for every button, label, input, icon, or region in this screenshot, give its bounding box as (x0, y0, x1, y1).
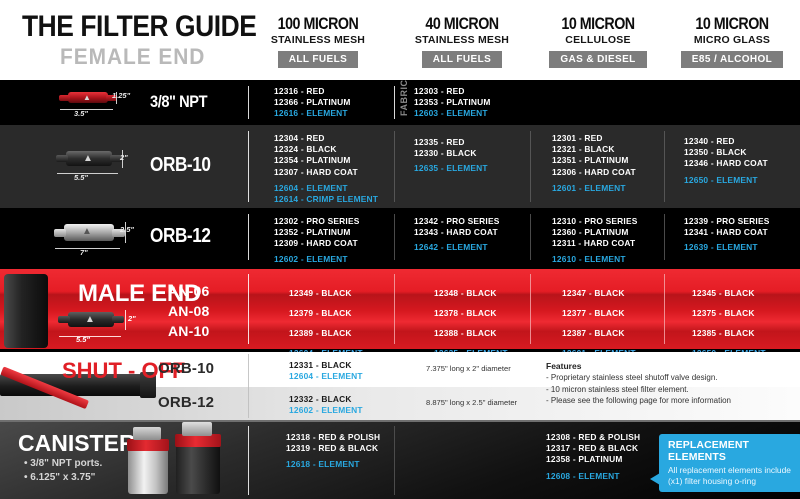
column-material-label: MICRO GLASS (666, 34, 798, 47)
section-canister[interactable]: CANISTER • 3/8" NPT ports. • 6.125" x 3.… (0, 422, 800, 499)
filter-guide-sheet: THE FILTER GUIDE FEMALE END 100 MICRON S… (0, 0, 800, 499)
row-label-an-06: AN-06 (168, 283, 209, 299)
column-divider (248, 354, 249, 418)
column-micron-label: 10 MICRON (677, 14, 788, 33)
column-material-label: CELLULOSE (532, 34, 664, 47)
filter-endcap-left (54, 229, 66, 237)
dimension-diameter-label: 2" (128, 314, 136, 323)
table-row-npt[interactable]: ▲ 3.5" 1.25" 3/8" NPT 12316 - RED 12366 … (0, 80, 800, 125)
column-fuel-badge: ALL FUELS (278, 51, 358, 68)
column-micron-label: 100 MICRON (263, 14, 374, 33)
parts-cell-10-micron-micro-glass: 12339 - PRO SERIES 12341 - HARD COAT 126… (684, 216, 800, 254)
column-header-40-micron: 40 MICRON STAINLESS MESH ALL FUELS (396, 14, 528, 68)
column-fuel-badge: ALL FUELS (422, 51, 502, 68)
canister-spec-line: • 3/8" NPT ports. (24, 458, 102, 469)
brand-logo-icon: ▲ (85, 314, 95, 325)
dimension-line-diameter (125, 310, 126, 330)
features-item: - 10 micron stainless steel filter eleme… (546, 384, 786, 396)
row-label-shutoff-orb-12: ORB-12 (158, 394, 214, 411)
row-label-orb-10: ORB-10 (150, 154, 211, 177)
shutoff-dimension-note-orb-10: 7.375" long x 2" diameter (426, 364, 511, 373)
brand-logo-icon: ▲ (83, 93, 91, 102)
brand-logo-icon: ▲ (82, 226, 92, 237)
dimension-length-label: 5.5" (74, 173, 88, 182)
column-divider (248, 214, 249, 260)
part-number-element: 12602 - ELEMENT (289, 405, 800, 416)
callout-heading: REPLACEMENT ELEMENTS (668, 439, 794, 463)
dimension-length-label: 5.5" (76, 335, 90, 344)
section-shut-off[interactable]: SHUT - OFF ORB-10 ORB-12 12331 - BLACK 1… (0, 352, 800, 422)
part-number: 12341 - HARD COAT (684, 227, 800, 238)
dimension-diameter-label: 2" (120, 153, 128, 162)
part-number: 12303 - RED (414, 86, 800, 97)
row-label-orb-12: ORB-12 (150, 225, 211, 248)
part-number-element: 12650 - ELEMENT (692, 343, 800, 352)
filter-endcap-right (112, 316, 124, 323)
parts-cell-10-micron-micro-glass: 12345 - BLACK 12375 - BLACK 12385 - BLAC… (692, 283, 800, 352)
brand-logo-icon: ▲ (83, 153, 93, 164)
male-end-fitting-illustration (4, 274, 48, 348)
column-fuel-badge: E85 / ALCOHOL (681, 51, 783, 68)
canister-spec-line: • 6.125" x 3.75" (24, 472, 95, 483)
section-title-female-end: FEMALE END (60, 44, 205, 70)
filter-endcap-left (59, 95, 70, 101)
part-number-element: 12610 - ELEMENT (552, 254, 800, 265)
column-header-10-micron-cellulose: 10 MICRON CELLULOSE GAS & DIESEL (532, 14, 664, 68)
section-title-canister: CANISTER (18, 430, 136, 457)
parts-cell-10-micron-micro-glass: 12340 - RED 12350 - BLACK 12346 - HARD C… (684, 136, 800, 186)
part-number: 12353 - PLATINUM (414, 97, 800, 108)
header: THE FILTER GUIDE FEMALE END 100 MICRON S… (0, 0, 800, 80)
column-header-10-micron-micro-glass: 10 MICRON MICRO GLASS E85 / ALCOHOL (666, 14, 798, 68)
part-number: 12345 - BLACK (692, 283, 800, 303)
column-micron-label: 10 MICRON (543, 14, 654, 33)
dimension-length-label: 7" (80, 248, 88, 257)
table-row-orb-12[interactable]: ▲ 7" 2.5" ORB-12 12302 - PRO SERIES 1235… (0, 208, 800, 266)
features-heading: Features (546, 360, 786, 372)
part-number: 12350 - BLACK (684, 147, 800, 158)
features-block: Features - Proprietary stainless steel s… (546, 360, 786, 407)
canister-illustration-polish (128, 448, 168, 494)
canister-illustration-black (176, 444, 220, 494)
part-number-element: 12603 - ELEMENT (414, 108, 800, 119)
canister-illustration-polish-bracket (133, 427, 161, 440)
row-label-npt: 3/8" NPT (150, 92, 207, 112)
row-label-shutoff-orb-10: ORB-10 (158, 360, 214, 377)
column-fuel-badge: GAS & DIESEL (549, 51, 646, 68)
section-male-end[interactable]: ▲ 5.5" 2" MALE END AN-06 AN-08 AN-10 123… (0, 266, 800, 352)
column-material-label: STAINLESS MESH (252, 34, 384, 47)
dimension-diameter-label: 1.25" (112, 91, 130, 100)
part-number: 12385 - BLACK (692, 323, 800, 343)
part-number: 12340 - RED (684, 136, 800, 147)
part-number-element: 12639 - ELEMENT (684, 242, 800, 253)
dimension-line-length (59, 336, 121, 337)
canister-illustration-black-bracket (182, 422, 212, 436)
column-divider (248, 274, 249, 344)
table-body: ▲ ▲ 3.5" 1.25" 3/8" NPT 12316 - RED 1236… (0, 80, 800, 499)
filter-endcap-left (56, 155, 68, 162)
part-number-element: 12650 - ELEMENT (684, 175, 800, 186)
column-divider (248, 426, 249, 495)
dimension-diameter-label: 2.5" (120, 225, 134, 234)
column-header-100-micron: 100 MICRON STAINLESS MESH ALL FUELS (252, 14, 384, 68)
fabric-label: FABRIC (399, 85, 409, 116)
part-number: 12346 - HARD COAT (684, 158, 800, 169)
part-number: 12339 - PRO SERIES (684, 216, 800, 227)
dimension-length-label: 3.5" (74, 109, 88, 118)
callout-body: All replacement elements include (x1) fi… (668, 465, 794, 486)
shutoff-dimension-note-orb-12: 8.875" long x 2.5" diameter (426, 398, 517, 407)
column-divider (248, 131, 249, 202)
parts-cell-40-micron: 12303 - RED 12353 - PLATINUM 12603 - ELE… (414, 86, 800, 120)
column-micron-label: 40 MICRON (407, 14, 518, 33)
page-title: THE FILTER GUIDE (22, 10, 256, 44)
filter-endcap-left (58, 316, 70, 323)
column-material-label: STAINLESS MESH (396, 34, 528, 47)
part-number: 12375 - BLACK (692, 303, 800, 323)
replacement-elements-callout: REPLACEMENT ELEMENTS All replacement ele… (659, 434, 800, 492)
features-item: - Proprietary stainless steel shutoff va… (546, 372, 786, 384)
canister-illustration-polish-collar (127, 439, 169, 451)
features-item: - Please see the following page for more… (546, 395, 786, 407)
row-label-an-10: AN-10 (168, 323, 209, 339)
column-divider (248, 86, 249, 119)
row-label-an-08: AN-08 (168, 303, 209, 319)
part-number-element: 12614 - CRIMP ELEMENT (274, 194, 800, 205)
table-row-orb-10[interactable]: ▲ 5.5" 2" ORB-10 12304 - RED 12324 - BLA… (0, 125, 800, 208)
